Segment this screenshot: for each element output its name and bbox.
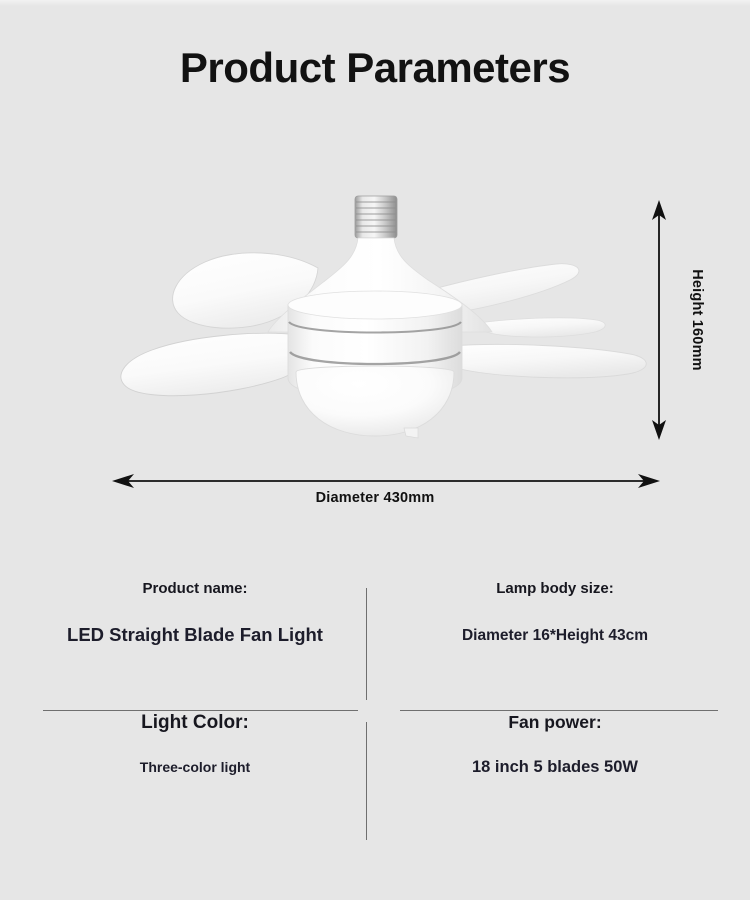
product-parameters-page: Product Parameters: [0, 0, 750, 900]
spec-value: LED Straight Blade Fan Light: [30, 624, 360, 646]
frosted-light-diffuser: [296, 366, 454, 438]
spec-cell-product-name: Product name: LED Straight Blade Fan Lig…: [30, 580, 360, 646]
spec-cell-light-color: Light Color: Three-color light: [30, 712, 360, 776]
spec-divider-vertical-top: [366, 588, 367, 700]
e27-screw-base: [355, 196, 397, 238]
spec-label: Fan power:: [390, 712, 720, 733]
fan-blade-5: [479, 318, 606, 337]
diameter-dimension-label: Diameter 430mm: [0, 490, 750, 506]
spec-divider-horizontal-right: [400, 710, 718, 711]
spec-divider-vertical-bottom: [366, 722, 367, 840]
spec-value: Three-color light: [30, 759, 360, 776]
spec-value: 18 inch 5 blades 50W: [390, 758, 720, 778]
page-title: Product Parameters: [0, 46, 750, 90]
fan-blade-2: [121, 333, 306, 395]
spec-cell-lamp-body-size: Lamp body size: Diameter 16*Height 43cm: [390, 580, 720, 646]
spec-divider-horizontal-left: [43, 710, 358, 711]
spec-cell-fan-power: Fan power: 18 inch 5 blades 50W: [390, 712, 720, 778]
height-dimension-label: Height 160mm: [674, 196, 720, 444]
spec-label: Light Color:: [30, 712, 360, 735]
spec-table: Product name: LED Straight Blade Fan Lig…: [0, 570, 750, 860]
spec-label: Product name:: [30, 580, 360, 598]
spec-label: Lamp body size:: [390, 580, 720, 598]
spec-value: Diameter 16*Height 43cm: [390, 627, 720, 646]
fan-blade-4: [442, 344, 646, 377]
top-sheen-strip: [0, 0, 750, 6]
